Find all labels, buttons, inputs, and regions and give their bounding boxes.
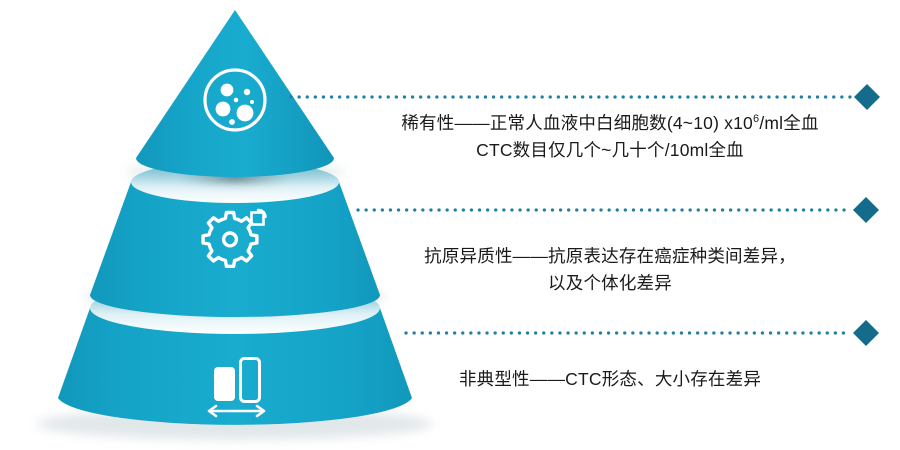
- connector-bottom-diamond: [853, 320, 879, 346]
- callout-text-middle: 抗原异质性——抗原表达存在癌症种类间差异， 以及个体化差异: [350, 243, 870, 297]
- connector-middle-diamond: [853, 197, 879, 223]
- callout-text-bottom: 非典型性——CTC形态、大小存在差异: [350, 366, 870, 393]
- tier-top-shape: [125, 10, 345, 182]
- callout-middle-line-2: 以及个体化差异: [350, 270, 870, 297]
- connector-middle: [358, 197, 879, 223]
- callout-top-line-2: CTC数目仅几个~几十个/10ml全血: [350, 137, 870, 164]
- callout-middle-line-1: 抗原异质性——抗原表达存在癌症种类间差异，: [350, 243, 870, 270]
- connector-bottom: [406, 320, 879, 346]
- connector-top: [291, 84, 880, 110]
- pyramid-diagram: 稀有性——正常人血液中白细胞数(4~10) x106/ml全血 CTC数目仅几个…: [0, 0, 900, 450]
- callout-top-line-1: 稀有性——正常人血液中白细胞数(4~10) x106/ml全血: [350, 110, 870, 137]
- connector-top-diamond: [854, 84, 880, 110]
- callout-text-top: 稀有性——正常人血液中白细胞数(4~10) x106/ml全血 CTC数目仅几个…: [350, 110, 870, 164]
- callout-bottom-line-1: 非典型性——CTC形态、大小存在差异: [350, 366, 870, 393]
- tier-top-body: [136, 10, 334, 177]
- tier-middle-shape: [83, 161, 387, 317]
